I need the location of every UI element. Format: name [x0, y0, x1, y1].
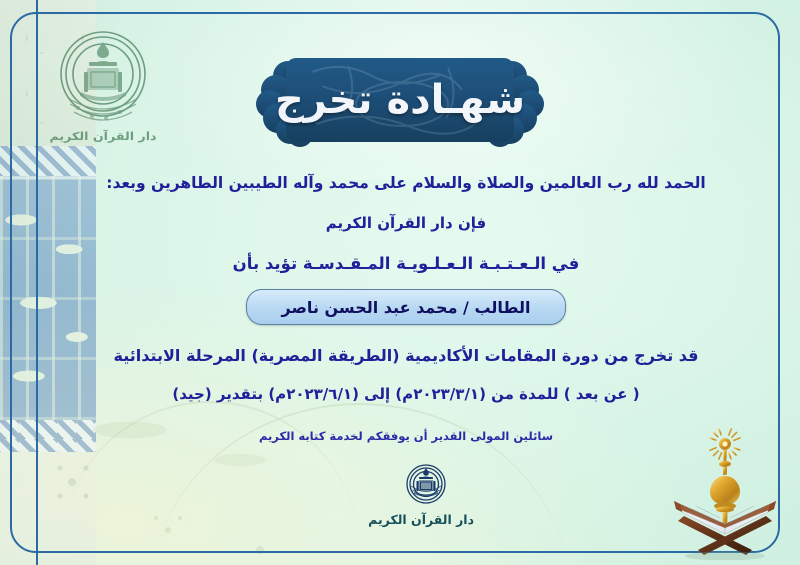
- frame-inner-vertical-line: [36, 0, 38, 565]
- course-line: قد تخرج من دورة المقامات الأكاديمية (الط…: [96, 346, 716, 365]
- dar-alquran-seal-icon: [404, 462, 448, 506]
- closing-wish-line: سائلين المولى القدير أن يوفقكم لخدمة كتا…: [96, 429, 716, 443]
- certificate-title: شهـادة تخرج: [252, 46, 548, 154]
- tilework-calligraphy-panel: [0, 176, 96, 420]
- student-name-box: الطالب / محمد عبد الحسن ناصر: [246, 289, 566, 325]
- praise-line: الحمد لله رب العالمين والصلاة والسلام عل…: [96, 174, 716, 192]
- certificate-page: دار القرآن الكريم: [0, 0, 800, 565]
- title-banner: شهـادة تخرج: [252, 46, 548, 154]
- shrine-emblem-caption: دار القرآن الكريم: [40, 130, 167, 143]
- student-name-text: الطالب / محمد عبد الحسن ناصر: [282, 298, 531, 317]
- certificate-body: الحمد لله رب العالمين والصلاة والسلام عل…: [96, 168, 716, 443]
- shrine-affirmation-line: في الـعـتـبـة الـعـلـويـة المـقـدسـة تؤي…: [96, 254, 716, 273]
- seal-caption: دار القرآن الكريم: [378, 512, 474, 527]
- shrine-emblem-icon: دار القرآن الكريم: [48, 22, 158, 157]
- period-and-grade-line: ( عن بعد ) للمدة من (٢٠٢٣/٣/١م) إلى (٢٠٢…: [96, 385, 716, 403]
- institution-line: فإن دار القرآن الكريم: [96, 214, 716, 232]
- drop-shadow: [685, 552, 765, 561]
- footer-seal-block: دار القرآن الكريم: [378, 462, 474, 527]
- quran-on-rehal-illustration: [660, 424, 790, 560]
- golden-finial: [710, 438, 740, 526]
